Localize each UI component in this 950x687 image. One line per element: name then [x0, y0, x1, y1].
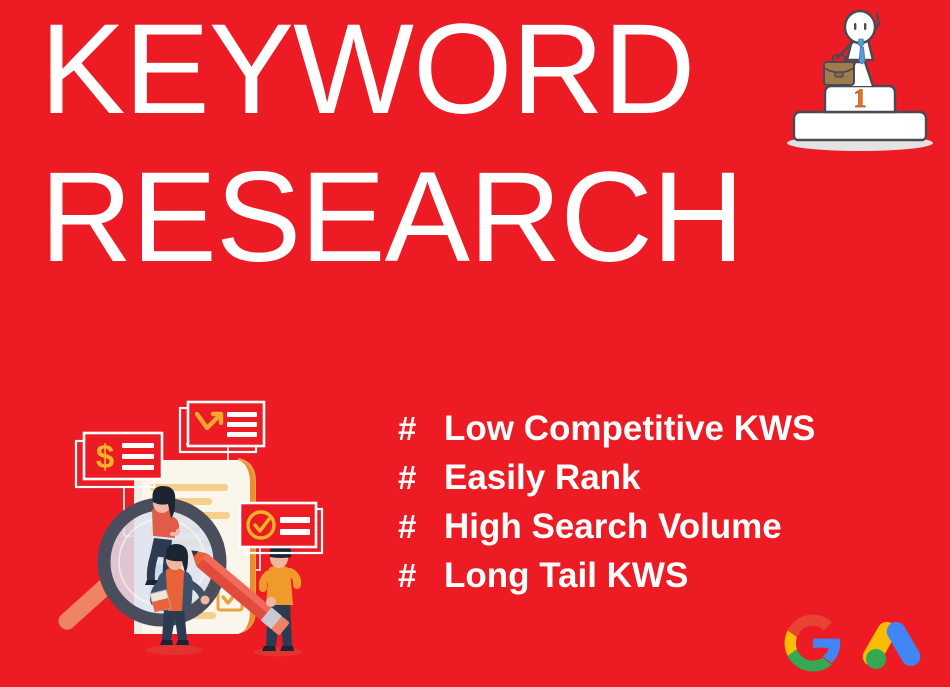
list-item: # Low Competitive KWS [398, 404, 918, 453]
ads-green-circle [866, 649, 886, 669]
page-title: KEYWORD RESEARCH [40, 8, 743, 280]
feature-list: # Low Competitive KWS # Easily Rank # Hi… [398, 404, 918, 600]
list-item: # Long Tail KWS [398, 551, 918, 600]
page-title-line-1: KEYWORD [40, 8, 743, 132]
magnifier-icon [58, 504, 220, 633]
dollar-card: $ [76, 433, 162, 487]
list-item-label: Easily Rank [444, 453, 641, 502]
winner-podium-illustration: 1 [775, 2, 945, 160]
hash-icon: # [398, 551, 444, 600]
dollar-icon: $ [96, 438, 114, 475]
list-item-label: Long Tail KWS [444, 551, 688, 600]
hash-icon: # [398, 453, 444, 502]
google-logo [782, 612, 844, 674]
hash-icon: # [398, 404, 444, 453]
check-card [240, 503, 322, 553]
poster-canvas: KEYWORD RESEARCH # Low Competitive KWS #… [0, 0, 950, 687]
pencil-hand [266, 597, 276, 607]
list-item-label: Low Competitive KWS [444, 404, 815, 453]
page-title-line-2: RESEARCH [40, 156, 743, 280]
podium-rank-number: 1 [854, 84, 867, 113]
google-red-path [788, 615, 832, 638]
trend-card [180, 402, 264, 452]
hash-icon: # [398, 502, 444, 551]
list-item-label: High Search Volume [444, 502, 782, 551]
list-item: # High Search Volume [398, 502, 918, 551]
list-item: # Easily Rank [398, 453, 918, 502]
keyword-research-illustration: $ [58, 398, 328, 666]
google-blue-path [813, 639, 840, 663]
google-green-path [788, 649, 832, 671]
brand-logos [782, 612, 922, 674]
google-ads-logo [862, 614, 922, 672]
